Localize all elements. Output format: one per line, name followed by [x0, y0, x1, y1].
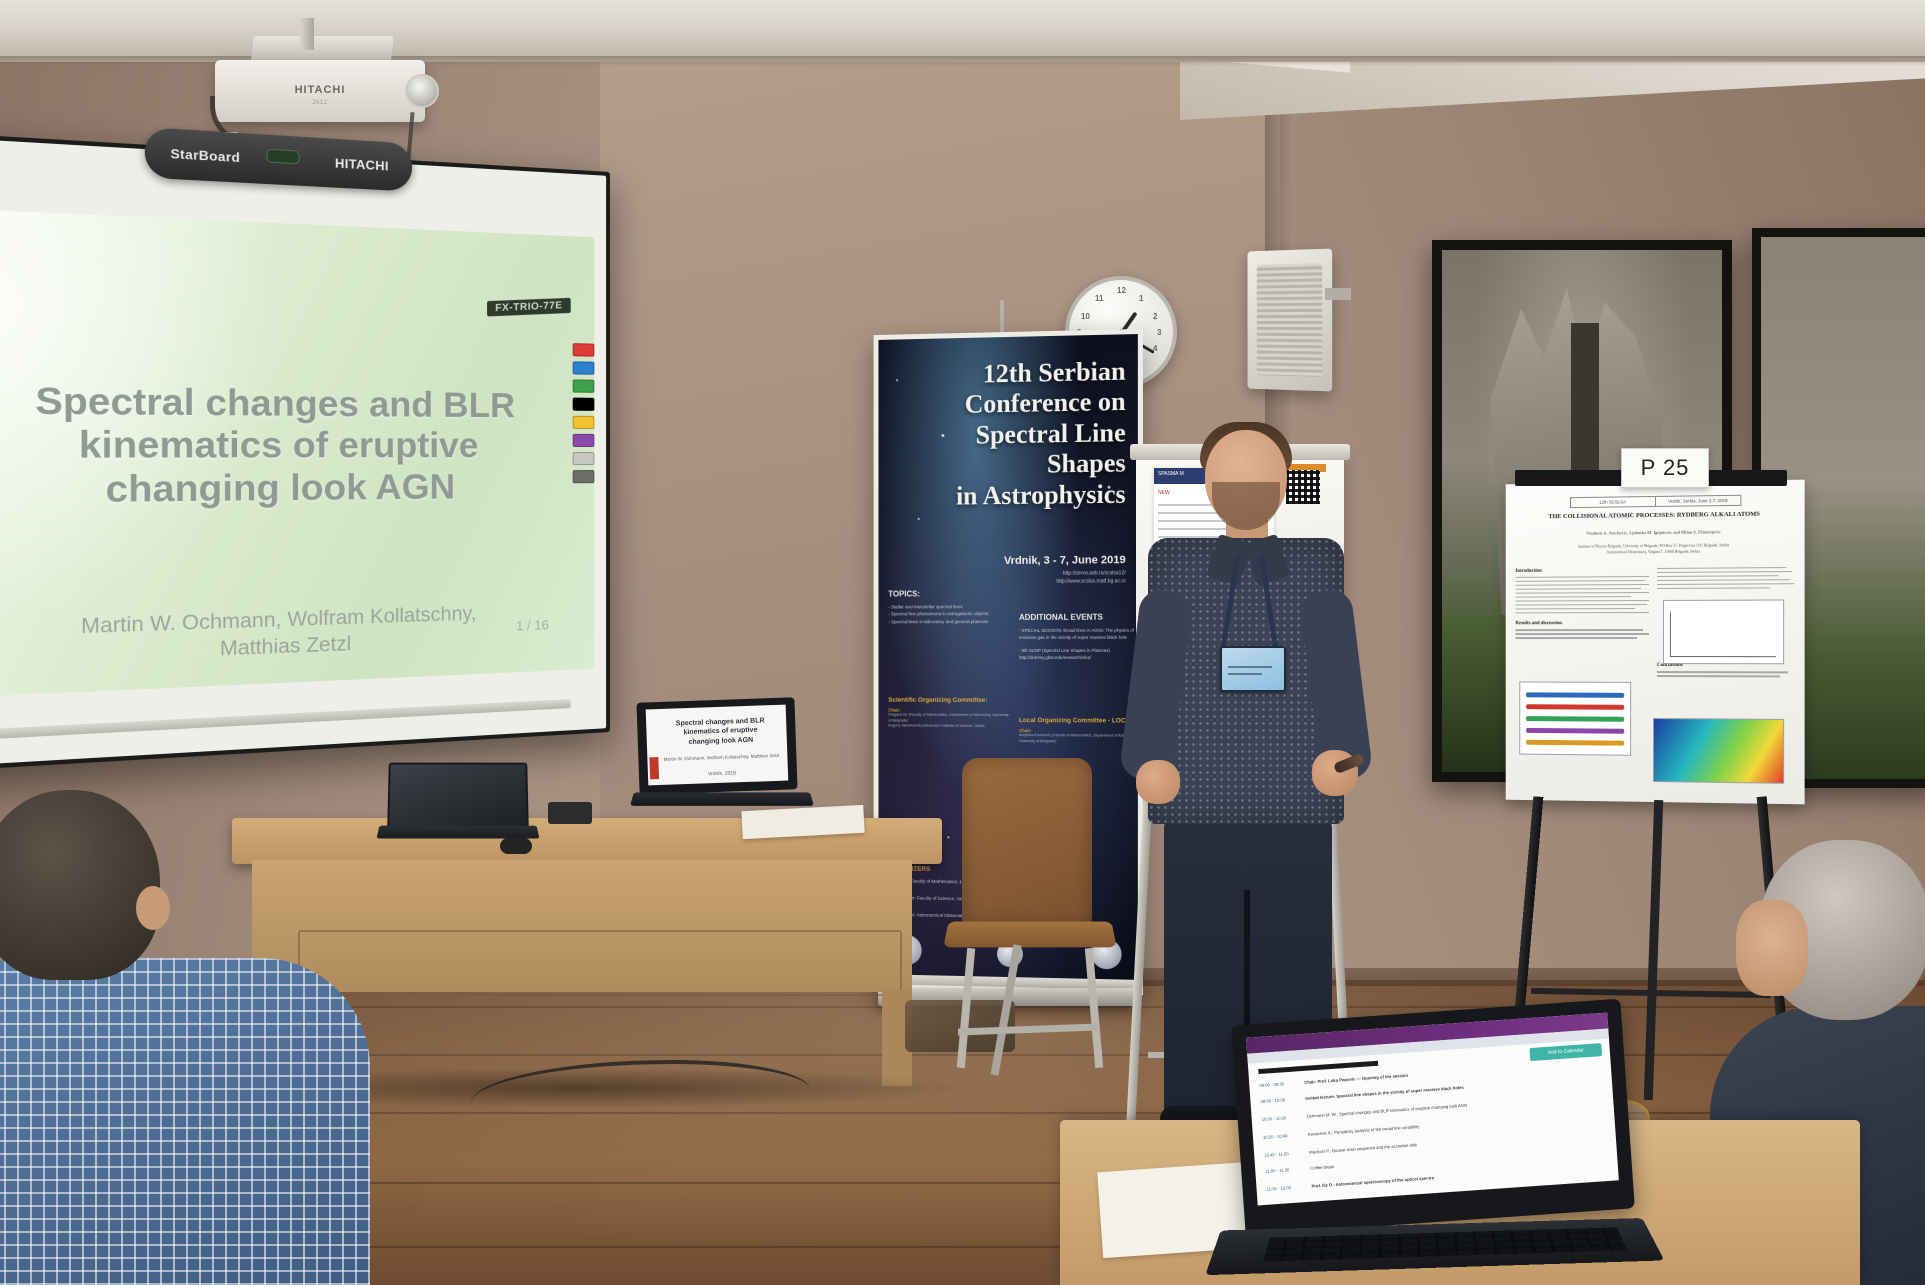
pen-swatch-red[interactable]: [573, 343, 595, 357]
schedule-time: 10:00 - 10:20: [1262, 1114, 1302, 1123]
sensor-indicator-icon: [266, 149, 299, 165]
schedule-time: 09:00 - 09:30: [1259, 1080, 1299, 1089]
poster-conference-badge: 12th SCSLSA Vrdnik, Serbia, June 3-7, 20…: [1570, 495, 1741, 508]
chair-seat: [943, 921, 1116, 947]
banner-title-line-5: in Astrophysics: [886, 479, 1125, 512]
clock-numeral-1: 1: [1139, 294, 1143, 303]
presenter-laptop-keyboard[interactable]: [630, 792, 814, 806]
chair-backrest: [962, 758, 1092, 926]
chair-leg-2: [1085, 948, 1103, 1068]
hitachi-brand-label: HITACHI: [335, 156, 389, 174]
banner-soc-section: Scientific Organizing Committee: Chair: …: [888, 697, 1011, 731]
banner-title-line-3: Spectral Line: [886, 418, 1125, 452]
power-adapter: [548, 802, 592, 824]
scientific-poster: 12th SCSLSA Vrdnik, Serbia, June 3-7, 20…: [1506, 480, 1805, 805]
projector-arm: [300, 18, 314, 50]
clock-numeral-11: 11: [1095, 294, 1103, 303]
clock-numeral-2: 2: [1153, 312, 1157, 321]
pen-swatch-black[interactable]: [573, 398, 595, 411]
conference-room-photo: HITACHI 2612 Spectral changes and BLR ki…: [0, 0, 1925, 1285]
presenter-hand-left: [1136, 760, 1180, 804]
wall-loudspeaker: [1248, 249, 1333, 392]
banner-soc-cochair: Evgeny Stambulchik (Weizmann Institute o…: [888, 724, 1011, 730]
dell-laptop-screen: Add to Calendar 09:00 - 09:30 Chair: Pro…: [1246, 1013, 1619, 1206]
presenter-laptop-screen: Spectral changes and BLR kinematics of e…: [646, 705, 789, 786]
chair-leg-1: [957, 948, 975, 1068]
banner-topic-3: - Spectral lines in laboratory and gener…: [888, 618, 1007, 626]
schedule-time: 11:30 - 12:00: [1266, 1184, 1306, 1193]
poster-figure-lineplot: [1663, 599, 1784, 664]
banner-topics-section: TOPICS: - Stellar and interstellar spect…: [888, 589, 1007, 625]
clock-numeral-3: 3: [1157, 328, 1161, 337]
speaker-grille-icon: [1257, 263, 1322, 377]
pen-swatch-yellow[interactable]: [573, 416, 595, 429]
poster-section-intro: Introduction: [1515, 568, 1649, 574]
plot-axes: [1670, 612, 1776, 658]
poster-figure-spectra: [1519, 681, 1631, 755]
starboard-brand-label: StarBoard: [170, 146, 240, 165]
whiteboard-surface: Spectral changes and BLR kinematics of e…: [0, 136, 606, 768]
presenter-beard: [1212, 482, 1280, 530]
poster-affiliation: Institute of Physics Belgrade, Universit…: [1517, 543, 1792, 556]
projected-slide: Spectral changes and BLR kinematics of e…: [0, 208, 594, 699]
poster-number-tag: P 25: [1621, 448, 1709, 488]
banner-title-line-4: Shapes: [886, 448, 1125, 482]
laptop-black-screen: [387, 763, 529, 828]
poster-figure-heatmap: [1653, 718, 1784, 784]
schedule-heading-underline: [1258, 1061, 1378, 1074]
laptop-black-keyboard[interactable]: [377, 826, 540, 839]
poster-section-results: Results and discussion: [1515, 621, 1649, 626]
banner-urls: http://servo.aob.rs/scslsa12/ http://www…: [886, 570, 1133, 586]
poster-badge-right: Vrdnik, Serbia, June 3-7, 2019: [1655, 496, 1740, 506]
laptop-slide-authors: Martin W. Ochmann, Wolfram Kollatschny, …: [659, 753, 783, 764]
banner-url-2: http://www.scslsa.matf.bg.ac.rs: [886, 578, 1125, 587]
poster-column-left: Introduction Results and discussion: [1515, 568, 1649, 641]
add-to-calendar-button[interactable]: Add to Calendar: [1529, 1043, 1602, 1061]
computer-mouse[interactable]: [500, 838, 532, 854]
banner-title: 12th Serbian Conference on Spectral Line…: [886, 356, 1133, 512]
pen-swatch-grey[interactable]: [573, 470, 595, 483]
whiteboard-pen-palette[interactable]: [573, 343, 593, 483]
clock-numeral-12: 12: [1117, 286, 1126, 295]
schedule-time: 10:20 - 10:40: [1263, 1132, 1303, 1141]
slide-page-indicator: 1 / 16: [516, 617, 549, 633]
slide-title-line-3: changing look AGN: [0, 467, 594, 514]
audience-left-shirt: [0, 958, 370, 1285]
poster-affiliation-line-2: Astronomical Observatory, Volgina 7, 110…: [1517, 548, 1792, 556]
chair-rail: [958, 1024, 1098, 1036]
banner-soc-chair: Dragana Ilic (Faculty of Mathematics, De…: [888, 713, 1011, 725]
pen-swatch-eraser[interactable]: [573, 452, 595, 465]
dell-laptop-lid: Add to Calendar 09:00 - 09:30 Chair: Pro…: [1231, 999, 1635, 1236]
projector-brand-label: HITACHI: [215, 84, 425, 96]
laptop-slide-accent-bar: [649, 757, 659, 779]
schedule-time: 10:40 - 11:00: [1264, 1150, 1304, 1159]
banner-date-place: Vrdnik, 3 - 7, June 2019: [886, 554, 1133, 568]
banner-soc-heading: Scientific Organizing Committee:: [888, 697, 1011, 704]
interactive-whiteboard[interactable]: Spectral changes and BLR kinematics of e…: [0, 131, 610, 772]
laptop-slide-title: Spectral changes and BLR kinematics of e…: [658, 716, 783, 749]
banner-title-line-2: Conference on: [886, 387, 1125, 422]
audience-left-head: [0, 790, 160, 980]
slide-title: Spectral changes and BLR kinematics of e…: [0, 379, 594, 514]
schedule-time: 11:00 - 11:30: [1265, 1166, 1305, 1175]
presenter-laptop[interactable]: Spectral changes and BLR kinematics of e…: [638, 700, 813, 820]
poster-title: THE COLLISIONAL ATOMIC PROCESSES: RYDBER…: [1517, 510, 1792, 522]
pen-swatch-purple[interactable]: [573, 434, 595, 447]
presenter-laptop-lid: Spectral changes and BLR kinematics of e…: [636, 697, 797, 794]
audience-member-left: [0, 790, 390, 1285]
slide-title-line-2: kinematics of eruptive: [0, 424, 594, 469]
clock-numeral-10: 10: [1081, 312, 1090, 321]
banner-topics-heading: TOPICS:: [888, 589, 1007, 599]
chair-leg-3: [991, 944, 1022, 1075]
whiteboard-pen-tray: [0, 699, 571, 742]
audience-left-ear: [136, 886, 170, 930]
schedule-time: 09:30 - 10:00: [1260, 1096, 1300, 1105]
slide-title-line-1: Spectral changes and BLR: [0, 379, 594, 427]
audience-right-face: [1736, 900, 1808, 996]
chair[interactable]: [940, 758, 1125, 1088]
poster-authors: Vladimir A. Sreckovic, Ljubinko M. Ignja…: [1517, 528, 1792, 538]
speaker-bracket: [1325, 288, 1351, 300]
pen-swatch-green[interactable]: [573, 379, 595, 392]
laptop-slide-venue: Vrdnik, 2019: [660, 769, 784, 779]
slide-venue-year: Vrdnik, 2019: [0, 689, 594, 699]
poster-badge-left: 12th SCSLSA: [1571, 497, 1656, 507]
pen-swatch-blue[interactable]: [573, 361, 595, 374]
poster-number-label: P 25: [1641, 455, 1690, 481]
conference-badge: Martin W. Ochmann: [1220, 646, 1286, 692]
dell-laptop[interactable]: Add to Calendar 09:00 - 09:30 Chair: Pro…: [1238, 1012, 1658, 1285]
